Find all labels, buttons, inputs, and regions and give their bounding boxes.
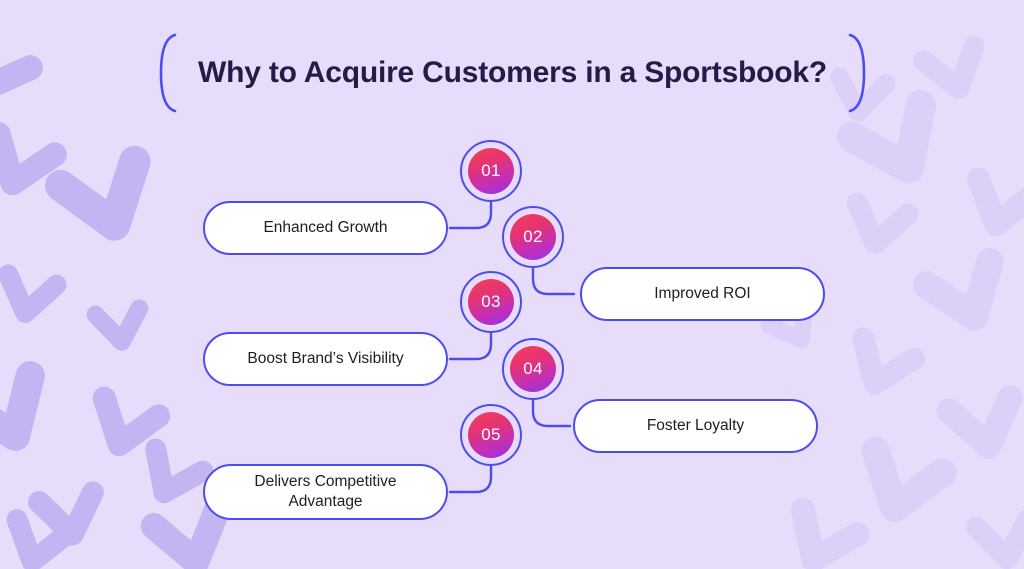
badge-number-02[interactable]: 02: [510, 214, 556, 260]
list-item-label-04[interactable]: Foster Loyalty: [573, 399, 818, 453]
badge-number-01[interactable]: 01: [468, 148, 514, 194]
list-item-label-02[interactable]: Improved ROI: [580, 267, 825, 321]
page-title-block: Why to Acquire Customers in a Sportsbook…: [155, 33, 870, 113]
page-title: Why to Acquire Customers in a Sportsbook…: [198, 56, 827, 90]
infographic-canvas: Why to Acquire Customers in a Sportsbook…: [0, 0, 1024, 569]
badge-number-03[interactable]: 03: [468, 279, 514, 325]
left-bracket-icon: [155, 33, 181, 113]
list-item-label-03[interactable]: Boost Brand’s Visibility: [203, 332, 448, 386]
right-bracket-icon: [844, 33, 870, 113]
list-item-label-01[interactable]: Enhanced Growth: [203, 201, 448, 255]
badge-number-04[interactable]: 04: [510, 346, 556, 392]
badge-number-05[interactable]: 05: [468, 412, 514, 458]
list-item-label-05[interactable]: Delivers Competitive Advantage: [203, 464, 448, 520]
